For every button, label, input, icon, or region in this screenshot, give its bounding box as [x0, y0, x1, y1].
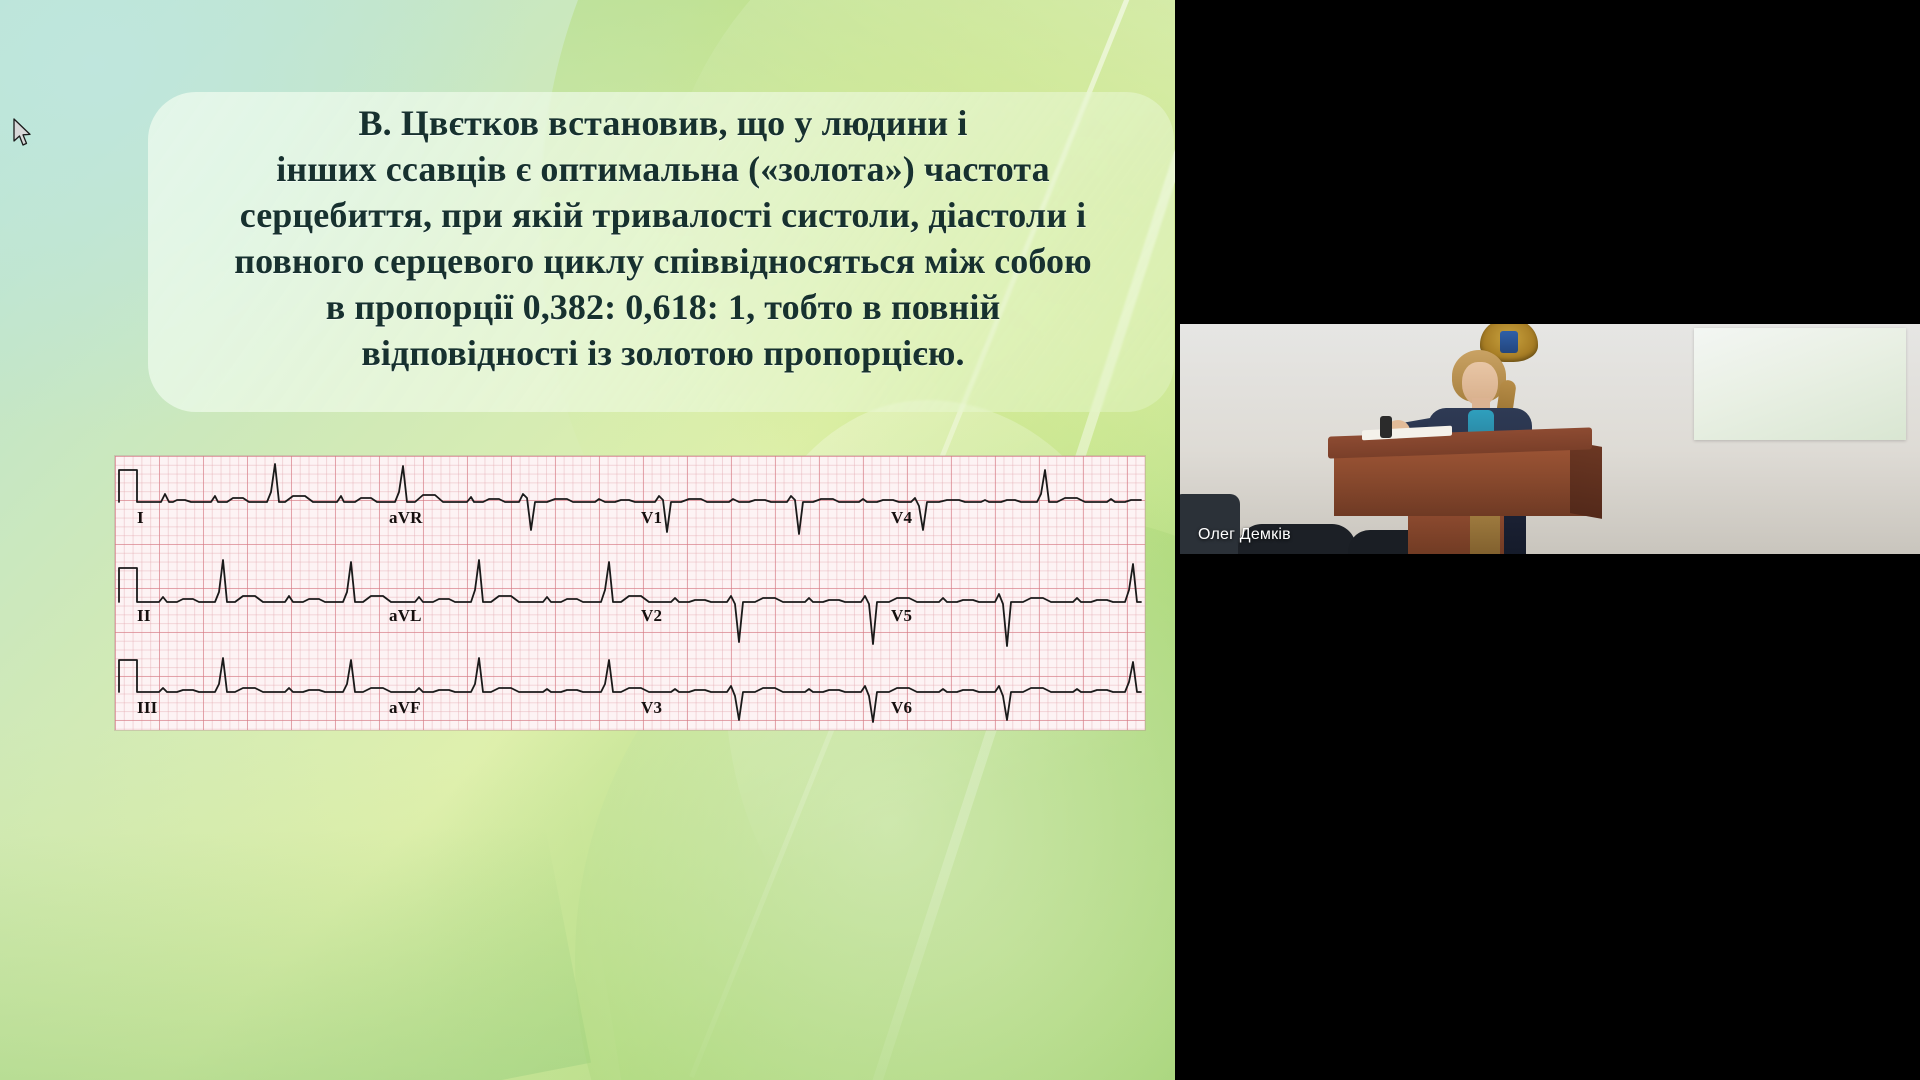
- audience-seat: [1180, 494, 1240, 554]
- ecg-lead-label-III: III: [137, 698, 157, 718]
- slide-text-line: повного серцевого циклу співвідносяться …: [148, 238, 1175, 284]
- ecg-lead-label-aVR: aVR: [389, 508, 423, 528]
- video-scene: [1180, 324, 1920, 554]
- podium-body: [1334, 450, 1586, 516]
- ecg-lead-label-V3: V3: [641, 698, 662, 718]
- ecg-lead-label-aVF: aVF: [389, 698, 421, 718]
- podium-side: [1570, 441, 1602, 519]
- participant-video-tile[interactable]: Олег Демків: [1180, 324, 1920, 554]
- ecg-lead-label-aVL: aVL: [389, 606, 422, 626]
- ecg-figure: I aVR V1 V4 II aVL V2 V5 III aVF V3 V6: [115, 456, 1145, 730]
- shared-slide: В. Цвєтков встановив, що у людини і інши…: [0, 0, 1175, 1080]
- projection-screen: [1694, 328, 1906, 440]
- slide-text-line: в пропорції 0,382: 0,618: 1, тобто в пов…: [148, 284, 1175, 330]
- ecg-lead-label-V5: V5: [891, 606, 912, 626]
- ecg-lead-label-V6: V6: [891, 698, 912, 718]
- ecg-traces: [115, 456, 1145, 730]
- slide-text-line: серцебиття, при якій тривалості систоли,…: [148, 192, 1175, 238]
- slide-text-line: інших ссавців є оптимальна («золота») ча…: [148, 146, 1175, 192]
- video-rail: Олег Демків: [1175, 0, 1920, 1080]
- mouse-cursor-icon: [12, 118, 34, 148]
- microphone-icon: [1380, 416, 1392, 438]
- podium-base-accent: [1470, 514, 1500, 554]
- screen-root: В. Цвєтков встановив, що у людини і інши…: [0, 0, 1920, 1080]
- ecg-lead-label-I: I: [137, 508, 144, 528]
- slide-text-line: відповідності із золотою пропорцією.: [148, 330, 1175, 376]
- participant-name-label: Олег Демків: [1198, 526, 1291, 544]
- ecg-lead-label-V1: V1: [641, 508, 662, 528]
- ecg-lead-label-V4: V4: [891, 508, 912, 528]
- slide-body-text: В. Цвєтков встановив, що у людини і інши…: [148, 100, 1175, 376]
- slide-text-line: В. Цвєтков встановив, що у людини і: [148, 100, 1175, 146]
- ecg-lead-label-II: II: [137, 606, 151, 626]
- ecg-lead-label-V2: V2: [641, 606, 662, 626]
